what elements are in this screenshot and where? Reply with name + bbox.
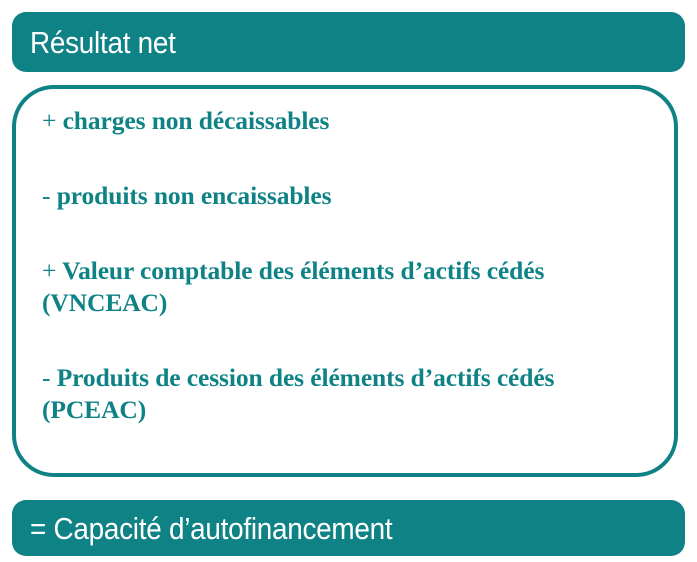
list-item: - Produits de cession des éléments d’act…	[42, 362, 652, 426]
adjustment-sign: +	[42, 106, 56, 135]
list-item: + Valeur comptable des éléments d’actifs…	[42, 255, 652, 319]
list-item: - produits non encaissables	[42, 180, 652, 212]
adjustments-box: + charges non décaissables - produits no…	[12, 85, 678, 477]
caf-result-bar: = Capacité d’autofinancement	[12, 500, 685, 556]
list-item: + charges non décaissables	[42, 105, 652, 137]
adjustment-label: Produits de cession des éléments d’actif…	[42, 363, 554, 424]
caf-result-label: = Capacité d’autofinancement	[30, 513, 392, 544]
adjustments-list: + charges non décaissables - produits no…	[42, 105, 652, 426]
adjustment-sign: +	[42, 256, 56, 285]
adjustment-label: produits non encaissables	[57, 181, 332, 210]
result-net-header-bar: Résultat net	[12, 12, 685, 72]
adjustment-sign: -	[42, 363, 50, 392]
adjustment-label: charges non décaissables	[63, 106, 330, 135]
adjustment-label: Valeur comptable des éléments d’actifs c…	[42, 256, 544, 317]
caf-calculation-diagram: Résultat net + charges non décaissables …	[0, 0, 697, 562]
adjustment-sign: -	[42, 181, 50, 210]
result-net-header-label: Résultat net	[30, 27, 176, 58]
